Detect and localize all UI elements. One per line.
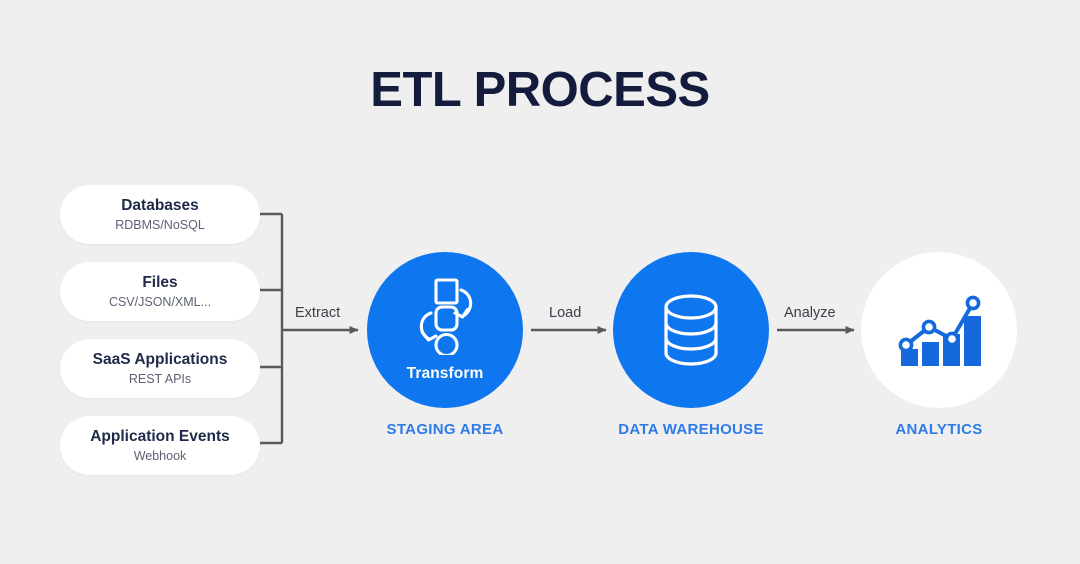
caption-staging-area: STAGING AREA [325, 421, 565, 438]
source-card-subtitle: RDBMS/NoSQL [115, 217, 205, 233]
flow-label-analyze: Analyze [784, 305, 836, 321]
source-card-subtitle: REST APIs [129, 371, 191, 387]
stage-node-data-warehouse[interactable] [613, 252, 769, 408]
stage-node-analytics[interactable] [861, 252, 1017, 408]
source-card-databases[interactable]: Databases RDBMS/NoSQL [60, 185, 260, 244]
source-card-files[interactable]: Files CSV/JSON/XML... [60, 262, 260, 321]
caption-data-warehouse: DATA WAREHOUSE [571, 421, 811, 438]
source-bracket [260, 214, 282, 443]
page-title: ETL PROCESS [0, 62, 1080, 118]
source-card-title: Application Events [90, 427, 230, 446]
caption-analytics: ANALYTICS [819, 421, 1059, 438]
source-card-application-events[interactable]: Application Events Webhook [60, 416, 260, 475]
source-card-list: Databases RDBMS/NoSQL Files CSV/JSON/XML… [60, 185, 260, 493]
source-card-subtitle: CSV/JSON/XML... [109, 294, 211, 310]
source-card-saas-applications[interactable]: SaaS Applications REST APIs [60, 339, 260, 398]
stage-node-transform[interactable]: Transform [367, 252, 523, 408]
etl-diagram-canvas: ETL PROCESS Databases RDBMS/NoSQL Files … [0, 0, 1080, 564]
source-card-title: Databases [121, 196, 199, 215]
bar-line-chart-icon [896, 292, 982, 368]
source-card-subtitle: Webhook [134, 448, 187, 464]
source-card-title: Files [142, 273, 177, 292]
database-cylinder-icon [655, 291, 727, 369]
flow-label-extract: Extract [295, 305, 340, 321]
transform-cycle-icon [408, 277, 482, 355]
flow-label-load: Load [549, 305, 581, 321]
source-card-title: SaaS Applications [93, 350, 228, 369]
transform-inner-label: Transform [407, 365, 484, 383]
